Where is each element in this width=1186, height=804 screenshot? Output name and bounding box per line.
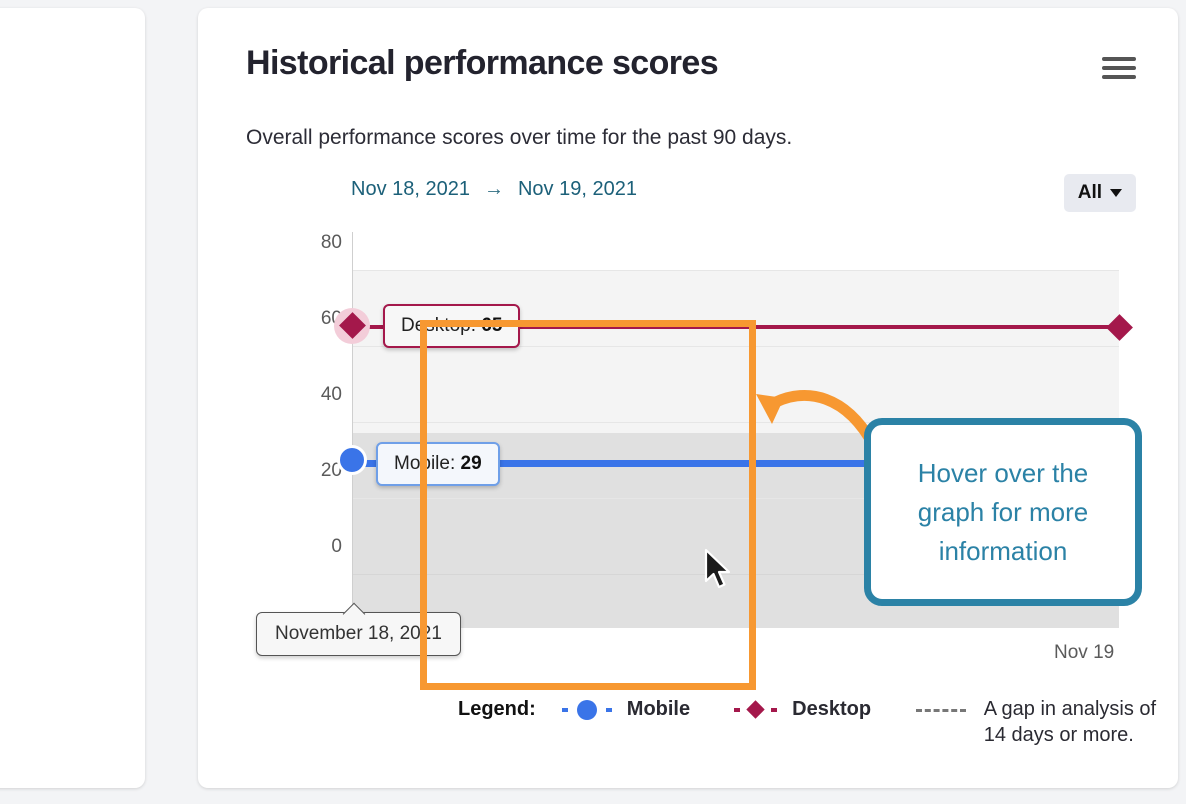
tooltip-mobile-label: Mobile: <box>394 453 461 474</box>
performance-chart: Page performance score 0 20 40 60 80 <box>198 8 1178 788</box>
tooltip-desktop-value: 65 <box>481 315 502 336</box>
hover-hint-text: Hover over the graph for more informatio… <box>885 454 1121 571</box>
circle-marker-icon <box>577 700 597 720</box>
x-tick-nov-19: Nov 19 <box>1054 642 1114 664</box>
legend-dash-left-mobile <box>562 708 568 712</box>
left-panel-card: es d s. p nce <box>0 8 145 788</box>
legend-label-desktop: Desktop <box>792 698 871 721</box>
chart-legend: Legend: Mobile Desktop <box>458 698 871 721</box>
historical-performance-card: Historical performance scores Overall pe… <box>198 8 1178 788</box>
y-tick-0: 0 <box>294 536 342 558</box>
band-top-white <box>353 232 1119 270</box>
hover-marker-mobile[interactable] <box>337 445 367 475</box>
gap-legend: A gap in analysis of 14 days or more. <box>916 696 1178 748</box>
legend-item-mobile[interactable]: Mobile <box>562 698 690 721</box>
legend-item-desktop[interactable]: Desktop <box>734 698 871 721</box>
diamond-marker-icon <box>746 700 764 718</box>
legend-dash-right-mobile <box>606 708 612 712</box>
legend-label-mobile: Mobile <box>627 698 690 721</box>
legend-title: Legend: <box>458 698 536 721</box>
tooltip-mobile: Mobile: 29 <box>376 442 500 486</box>
tooltip-desktop-label: Desktop: <box>401 315 481 336</box>
y-tick-80: 80 <box>294 232 342 254</box>
legend-dash-left-desktop <box>734 708 740 712</box>
y-tick-20: 20 <box>294 460 342 482</box>
gridline-80 <box>353 270 1119 271</box>
y-axis-ticks: 0 20 40 60 80 <box>294 232 342 628</box>
y-tick-40: 40 <box>294 384 342 406</box>
dashed-line-icon <box>916 709 966 712</box>
screen: es d s. p nce Historical performance sco… <box>0 0 1186 804</box>
tooltip-mobile-value: 29 <box>461 453 482 474</box>
gap-legend-text: A gap in analysis of 14 days or more. <box>984 696 1178 748</box>
tooltip-desktop: Desktop: 65 <box>383 304 520 348</box>
hover-hint-callout: Hover over the graph for more informatio… <box>864 418 1142 606</box>
legend-dash-right-desktop <box>771 708 777 712</box>
